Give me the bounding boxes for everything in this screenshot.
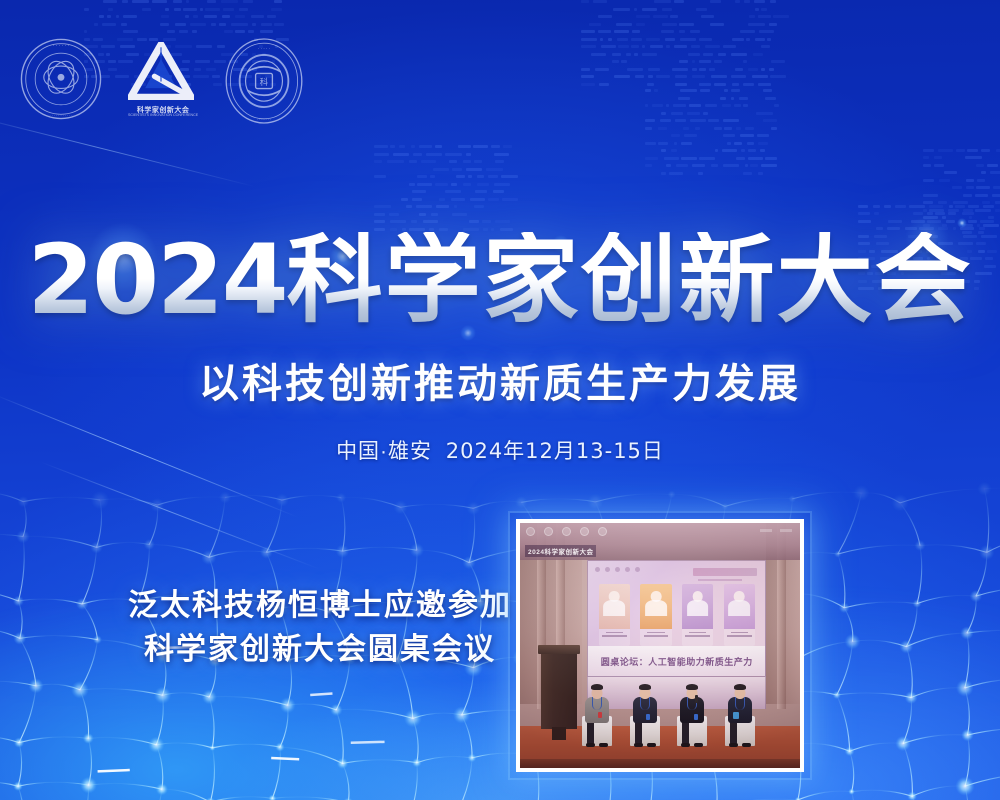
speaker-card bbox=[682, 584, 713, 646]
logo-triangle-center: 科学家创新大会 SCIENTISTS INNOVATION CONFERENCE bbox=[128, 42, 198, 118]
page-title: 2024科学家创新大会 bbox=[0, 232, 1000, 329]
banner-icon bbox=[544, 527, 553, 536]
svg-text:· · · · ·: · · · · · bbox=[258, 46, 270, 51]
logo-row: · · · · · · · · · · · · · · · · · · · 科学… bbox=[18, 36, 306, 131]
banner-icon bbox=[580, 527, 589, 536]
page-subtitle: 以科技创新推动新质生产力发展 bbox=[0, 351, 1000, 409]
triangle-logo-icon bbox=[128, 42, 194, 100]
poster-canvas: · · · · · · · · · · · · · · · · · · · 科学… bbox=[0, 0, 1000, 800]
light-streak bbox=[40, 461, 320, 569]
seal-logo-right-icon: 科 · · · · · · · · · · · · bbox=[222, 36, 306, 126]
panelist bbox=[579, 641, 615, 744]
svg-text:· · · · · · · ·: · · · · · · · · bbox=[50, 44, 73, 49]
podium bbox=[541, 650, 577, 728]
speaker-card bbox=[724, 584, 755, 646]
speaker-card bbox=[640, 584, 671, 646]
screen-header-icons bbox=[595, 567, 640, 572]
panelist bbox=[722, 641, 758, 744]
room-banner-icons bbox=[526, 527, 607, 536]
screen-logo bbox=[693, 568, 757, 576]
screen-speaker-portraits bbox=[599, 584, 755, 646]
svg-text:科: 科 bbox=[260, 77, 269, 87]
stage-front-edge bbox=[520, 759, 800, 768]
panelist bbox=[674, 641, 710, 744]
room-banner-text: 2024科学家创新大会 bbox=[525, 545, 596, 557]
speaker-card bbox=[599, 584, 630, 646]
svg-text:· · · · · · · · · · ·: · · · · · · · · · · · bbox=[50, 114, 73, 118]
banner-icon bbox=[562, 527, 571, 536]
title-block: 2024科学家创新大会 以科技创新推动新质生产力发展 中国·雄安 2024年12… bbox=[0, 232, 1000, 465]
event-meta: 中国·雄安 2024年12月13-15日 bbox=[0, 435, 1000, 465]
banner-icon bbox=[526, 527, 535, 536]
seal-logo-left-icon: · · · · · · · · · · · · · · · · · · · bbox=[18, 36, 104, 122]
caption-line-2: 科学家创新大会圆桌会议 bbox=[120, 628, 520, 672]
triangle-logo-caption: 科学家创新大会 SCIENTISTS INNOVATION CONFERENCE bbox=[128, 107, 198, 118]
title-chinese: 科学家创新大会 bbox=[287, 227, 973, 334]
caption-block: 泛太科技杨恒博士应邀参加 科学家创新大会圆桌会议 bbox=[120, 584, 520, 671]
logo-seal-right: 科 · · · · · · · · · · · · bbox=[222, 36, 306, 131]
event-location: 中国·雄安 bbox=[336, 440, 432, 463]
panelist bbox=[626, 641, 662, 744]
event-photo-frame: 2024科学家创新大会 bbox=[516, 519, 804, 772]
logo-seal-left: · · · · · · · · · · · · · · · · · · · bbox=[18, 36, 104, 127]
event-photo: 2024科学家创新大会 bbox=[520, 523, 800, 768]
banner-icon bbox=[598, 527, 607, 536]
room-banner-ticks bbox=[760, 529, 792, 532]
caption-line-1: 泛太科技杨恒博士应邀参加 bbox=[120, 584, 520, 628]
title-year: 2024 bbox=[27, 224, 286, 336]
svg-text:· · · · · · ·: · · · · · · · bbox=[257, 117, 271, 121]
event-date: 2024年12月13-15日 bbox=[446, 439, 664, 463]
room-banner: 2024科学家创新大会 bbox=[520, 523, 800, 560]
